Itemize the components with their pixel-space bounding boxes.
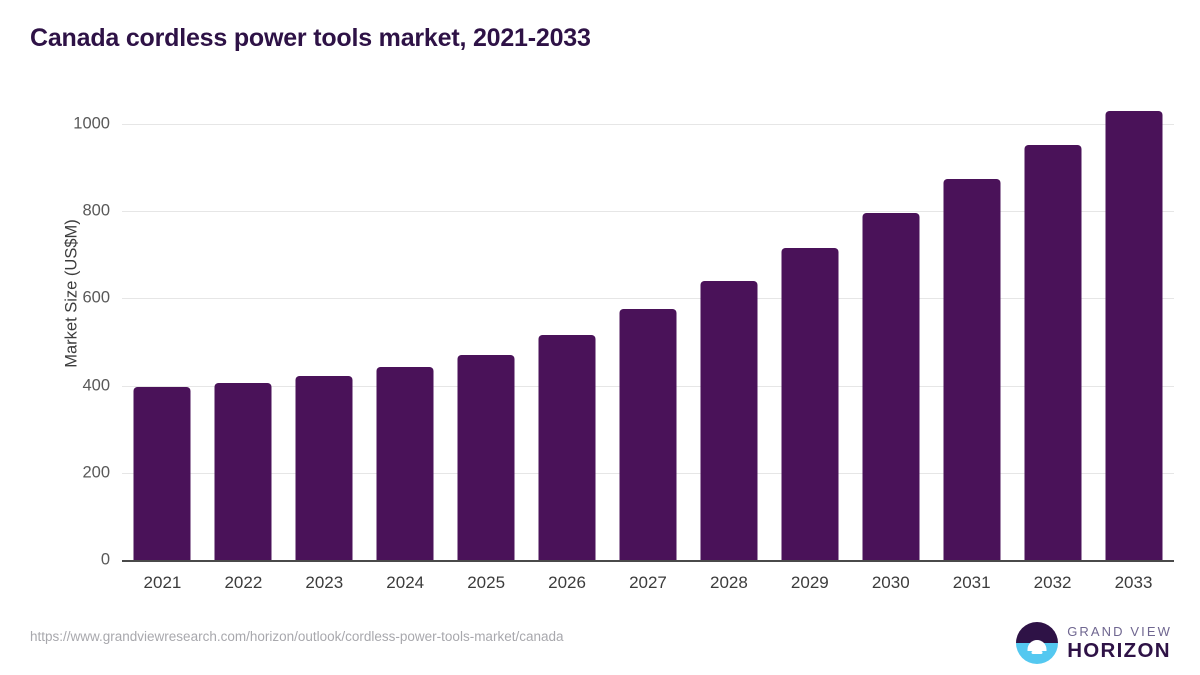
- bar[interactable]: [619, 309, 676, 560]
- bar[interactable]: [458, 355, 515, 560]
- bar[interactable]: [377, 367, 434, 560]
- bar[interactable]: [943, 179, 1000, 560]
- bar[interactable]: [781, 248, 838, 560]
- x-tick-label: 2027: [629, 573, 667, 593]
- bar-group-2029: 2029: [769, 0, 850, 675]
- bar-group-2027: 2027: [608, 0, 689, 675]
- bar-group-2028: 2028: [688, 0, 769, 675]
- x-tick-label: 2026: [548, 573, 586, 593]
- y-tick-label: 0: [0, 551, 110, 570]
- x-tick-label: 2024: [386, 573, 424, 593]
- x-tick-label: 2023: [305, 573, 343, 593]
- bar-group-2024: 2024: [365, 0, 446, 675]
- x-tick-label: 2032: [1034, 573, 1072, 593]
- bar[interactable]: [215, 383, 272, 560]
- bar-group-2033: 2033: [1093, 0, 1174, 675]
- logo-ray-line-2: [1032, 651, 1043, 653]
- bar[interactable]: [134, 387, 191, 560]
- bar[interactable]: [1105, 111, 1162, 560]
- logo-wordmark: GRAND VIEW HORIZON: [1067, 625, 1172, 662]
- chart-page: Canada cordless power tools market, 2021…: [0, 0, 1200, 675]
- bar-group-2026: 2026: [527, 0, 608, 675]
- bar-group-2030: 2030: [850, 0, 931, 675]
- bar[interactable]: [862, 213, 919, 560]
- bar-series: 2021202220232024202520262027202820292030…: [122, 0, 1174, 675]
- logo-text-horizon: HORIZON: [1067, 641, 1172, 662]
- x-tick-label: 2029: [791, 573, 829, 593]
- y-tick-label: 400: [0, 376, 110, 395]
- plot-area: Market Size (US$M) 02004006008001000 202…: [0, 0, 1200, 675]
- grand-view-horizon-logo[interactable]: GRAND VIEW HORIZON: [1016, 622, 1172, 664]
- x-tick-label: 2033: [1115, 573, 1153, 593]
- y-tick-label: 1000: [0, 115, 110, 134]
- bar[interactable]: [700, 281, 757, 560]
- bar[interactable]: [1024, 145, 1081, 560]
- bar[interactable]: [539, 335, 596, 560]
- horizon-sun-icon: [1016, 622, 1058, 664]
- x-tick-label: 2025: [467, 573, 505, 593]
- x-tick-label: 2028: [710, 573, 748, 593]
- source-url[interactable]: https://www.grandviewresearch.com/horizo…: [30, 629, 564, 644]
- x-tick-label: 2030: [872, 573, 910, 593]
- bar-group-2021: 2021: [122, 0, 203, 675]
- bar[interactable]: [296, 376, 353, 560]
- y-tick-label: 200: [0, 463, 110, 482]
- bar-group-2031: 2031: [931, 0, 1012, 675]
- x-tick-label: 2021: [144, 573, 182, 593]
- y-tick-label: 800: [0, 202, 110, 221]
- x-tick-label: 2031: [953, 573, 991, 593]
- x-tick-label: 2022: [224, 573, 262, 593]
- bar-group-2032: 2032: [1012, 0, 1093, 675]
- logo-ray-line-1: [1029, 647, 1046, 649]
- logo-text-grand-view: GRAND VIEW: [1067, 625, 1172, 638]
- bar-group-2025: 2025: [446, 0, 527, 675]
- bar-group-2023: 2023: [284, 0, 365, 675]
- bar-group-2022: 2022: [203, 0, 284, 675]
- y-tick-label: 600: [0, 289, 110, 308]
